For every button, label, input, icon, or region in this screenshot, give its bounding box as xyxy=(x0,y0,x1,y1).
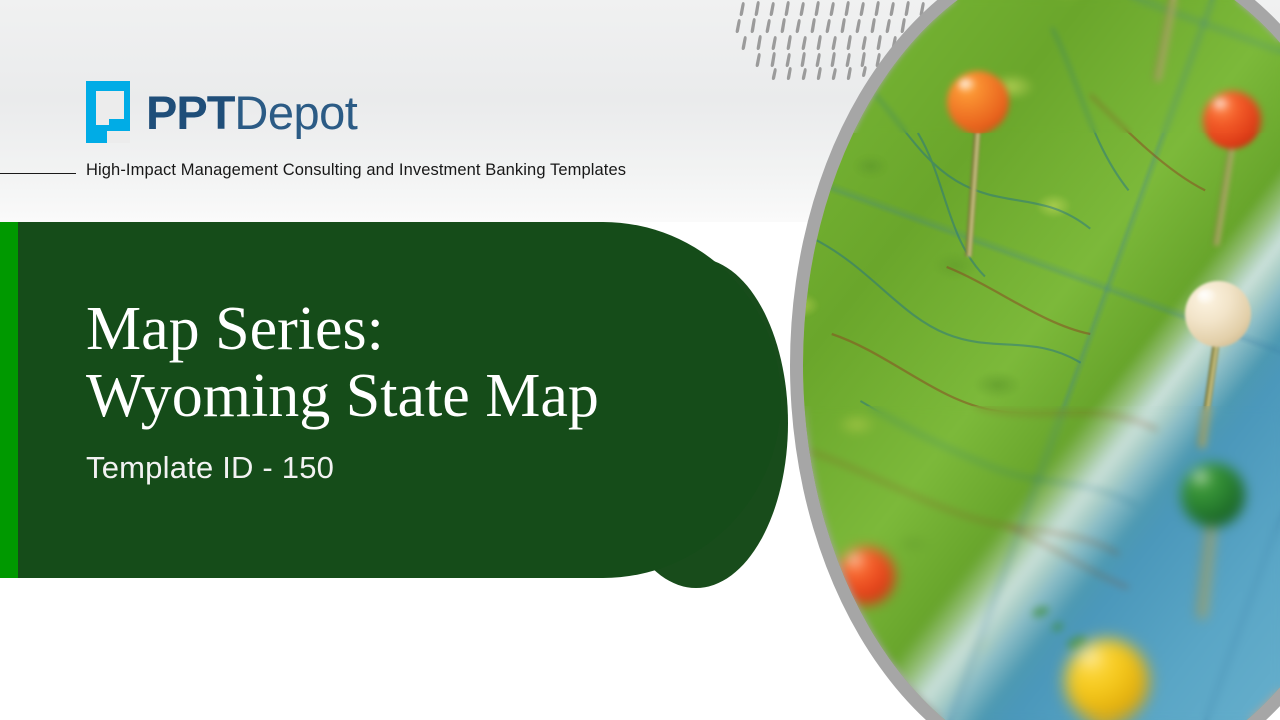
map-depth-blur-top xyxy=(803,0,1280,133)
tagline-rule xyxy=(0,173,76,174)
brand-logo[interactable]: PPTDepot xyxy=(86,79,357,145)
tagline: High-Impact Management Consulting and In… xyxy=(86,161,626,180)
page-subtitle: Template ID - 150 xyxy=(86,450,726,486)
map-depth-blur-bottom xyxy=(803,406,1280,720)
photo-clip xyxy=(803,0,1280,720)
slide-canvas: PPTDepot High-Impact Management Consulti… xyxy=(0,0,1280,720)
accent-bar xyxy=(0,222,18,578)
page-title: Map Series: Wyoming State Map xyxy=(86,296,726,430)
logo-text-ppt: PPT xyxy=(146,89,234,136)
ppt-depot-logo-mark-icon xyxy=(86,81,130,143)
logo-text-depot: Depot xyxy=(234,89,357,136)
logo-wordmark: PPTDepot xyxy=(146,89,357,136)
world-map-with-pushpins-photo xyxy=(790,0,1280,720)
title-block: Map Series: Wyoming State Map Template I… xyxy=(86,296,726,486)
